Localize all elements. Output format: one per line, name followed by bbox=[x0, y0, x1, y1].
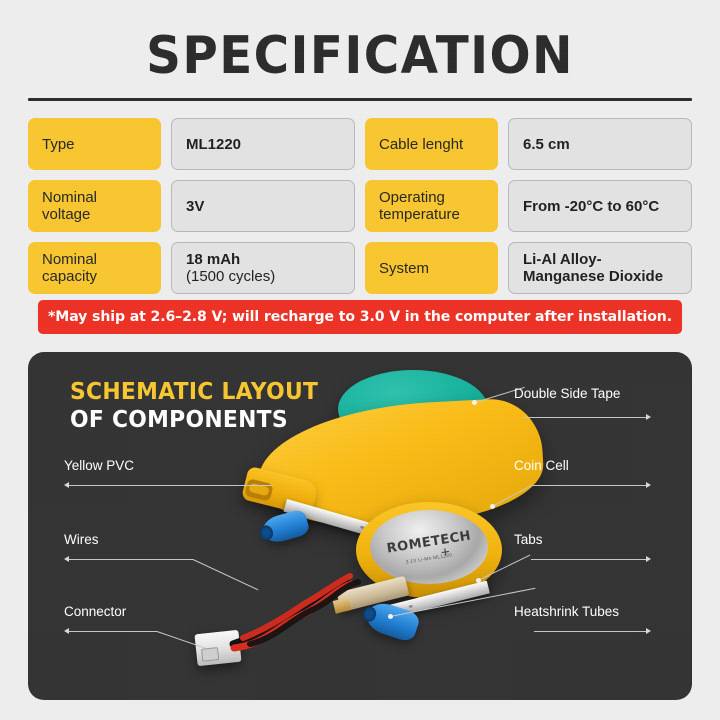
schematic-heading: SCHEMATIC LAYOUT OF COMPONENTS bbox=[70, 378, 318, 434]
leader-cap-connector bbox=[64, 628, 69, 634]
spec-value-operating-temperature: From -20°C to 60°C bbox=[508, 180, 692, 232]
leader-line-tabs bbox=[531, 559, 648, 560]
spec-value-nominal-voltage: 3V bbox=[171, 180, 355, 232]
spec-value-nominal-capacity-main: 18 mAh bbox=[186, 251, 275, 268]
heatshrink-tube-graphic-upper bbox=[259, 508, 310, 546]
leader-cap-wires bbox=[64, 556, 69, 562]
page-title: SPECIFICATION bbox=[25, 28, 695, 84]
leader-line-heatshrink-tubes bbox=[534, 631, 648, 632]
spec-value-type-main: ML1220 bbox=[186, 136, 241, 153]
shipping-voltage-notice: *May ship at 2.6–2.8 V; will recharge to… bbox=[38, 300, 682, 334]
leader-line-double-side-tape bbox=[524, 417, 648, 418]
spec-key-cable-length: Cable lenght bbox=[365, 118, 498, 170]
leader-cap-yellow-pvc bbox=[64, 482, 69, 488]
label-yellow-pvc: Yellow PVC bbox=[64, 458, 134, 473]
label-tabs: Tabs bbox=[514, 532, 543, 547]
label-connector: Connector bbox=[64, 604, 126, 619]
connector-graphic bbox=[194, 630, 241, 666]
leader-cap-tabs bbox=[646, 556, 651, 562]
title-divider bbox=[28, 98, 692, 101]
coin-cell-face: ROMETECH + 3.1V Li-Mn ML1220 bbox=[370, 510, 488, 584]
leader-cap-coin-cell bbox=[646, 482, 651, 488]
spec-key-system: System bbox=[365, 242, 498, 294]
schematic-panel: SCHEMATIC LAYOUT OF COMPONENTS ROMETECH … bbox=[28, 352, 692, 700]
leader-dot-coin-cell bbox=[490, 504, 495, 509]
spec-value-nominal-voltage-main: 3V bbox=[186, 198, 204, 215]
leader-cap-double-side-tape bbox=[646, 414, 651, 420]
schematic-heading-line2: OF COMPONENTS bbox=[70, 406, 318, 434]
spec-value-system: Li-Al Alloy-Manganese Dioxide bbox=[508, 242, 692, 294]
spec-key-type: Type bbox=[28, 118, 161, 170]
spec-value-cable-length: 6.5 cm bbox=[508, 118, 692, 170]
spec-value-cable-length-main: 6.5 cm bbox=[523, 136, 570, 153]
label-coin-cell: Coin Cell bbox=[514, 458, 569, 473]
leader-cap-heatshrink-tubes bbox=[646, 628, 651, 634]
label-wires: Wires bbox=[64, 532, 99, 547]
leader-line-connector bbox=[69, 631, 157, 632]
spec-value-operating-temperature-main: From -20°C to 60°C bbox=[523, 198, 659, 215]
label-double-side-tape: Double Side Tape bbox=[514, 386, 620, 401]
spec-value-nominal-capacity: 18 mAh (1500 cycles) bbox=[171, 242, 355, 294]
tab-crimp-graphic bbox=[333, 597, 352, 613]
spec-key-operating-temperature: Operatingtemperature bbox=[365, 180, 498, 232]
spec-key-nominal-voltage: Nominalvoltage bbox=[28, 180, 161, 232]
leader-line-yellow-pvc bbox=[69, 485, 273, 486]
specification-table: Type ML1220 Cable lenght 6.5 cm Nominalv… bbox=[28, 118, 692, 294]
leader-line-coin-cell bbox=[533, 485, 648, 486]
leader-dot-tabs bbox=[476, 578, 481, 583]
spec-value-system-main: Li-Al Alloy-Manganese Dioxide bbox=[523, 251, 677, 285]
label-heatshrink-tubes: Heatshrink Tubes bbox=[514, 604, 619, 619]
leader-dot-heatshrink-tubes bbox=[388, 614, 393, 619]
leader-line-wires bbox=[69, 559, 193, 560]
spec-value-type: ML1220 bbox=[171, 118, 355, 170]
schematic-heading-line1: SCHEMATIC LAYOUT bbox=[70, 378, 318, 406]
spec-key-nominal-capacity: Nominalcapacity bbox=[28, 242, 161, 294]
leader-dot-double-side-tape bbox=[472, 400, 477, 405]
spec-value-nominal-capacity-sub: (1500 cycles) bbox=[186, 268, 275, 285]
